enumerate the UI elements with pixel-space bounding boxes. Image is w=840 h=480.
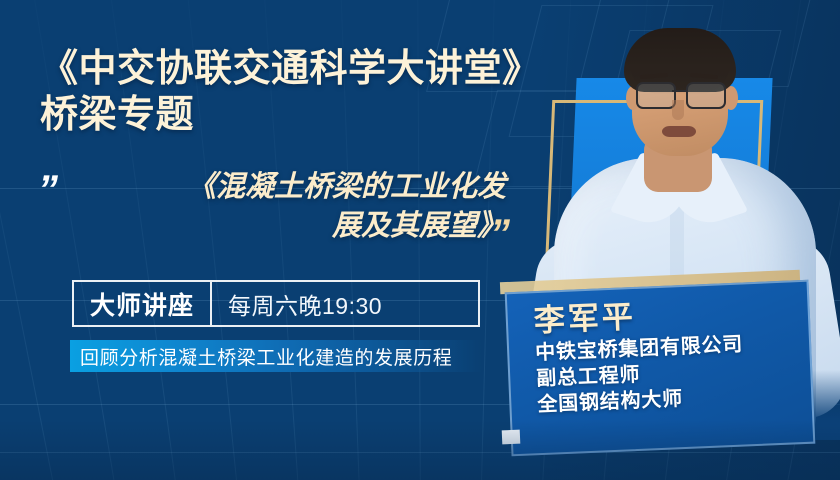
speaker-mouth bbox=[662, 126, 696, 137]
subtitle-text: 回顾分析混凝土桥梁工业化建造的发展历程 bbox=[70, 343, 452, 370]
lecture-title: 大师讲座 bbox=[74, 286, 210, 322]
glasses-lens-left bbox=[636, 82, 676, 109]
headline-line-1: 《中交协联交通科学大讲堂》 bbox=[40, 46, 540, 92]
page-title: 《中交协联交通科学大讲堂》 桥梁专题 bbox=[40, 46, 540, 139]
quote-line-1: 《混凝土桥梁的工业化发 bbox=[86, 168, 506, 207]
speaker-ear-right bbox=[724, 86, 738, 110]
grid-line-vertical bbox=[0, 0, 1, 480]
quote-line-2: 展及其展望》 bbox=[86, 207, 506, 246]
quote-mark-open-icon: ” bbox=[38, 170, 55, 210]
quote-mark-close-icon: ” bbox=[490, 214, 507, 254]
headline-line-2: 桥梁专题 bbox=[40, 92, 540, 138]
glasses-lens-right bbox=[686, 82, 726, 109]
quote-text: 《混凝土桥梁的工业化发 展及其展望》 bbox=[86, 168, 506, 246]
lecture-info-box: 大师讲座 每周六晚19:30 bbox=[72, 280, 480, 327]
speaker-nose bbox=[672, 100, 684, 120]
topic-quote: ” 《混凝土桥梁的工业化发 展及其展望》 ” bbox=[38, 168, 538, 268]
lecture-schedule: 每周六晚19:30 bbox=[212, 287, 398, 321]
bottom-fade bbox=[0, 420, 840, 480]
lecture-poster: 《中交协联交通科学大讲堂》 桥梁专题 ” 《混凝土桥梁的工业化发 展及其展望》 … bbox=[0, 0, 840, 480]
subtitle-strip: 回顾分析混凝土桥梁工业化建造的发展历程 bbox=[70, 340, 482, 372]
glasses-bridge bbox=[672, 90, 686, 92]
